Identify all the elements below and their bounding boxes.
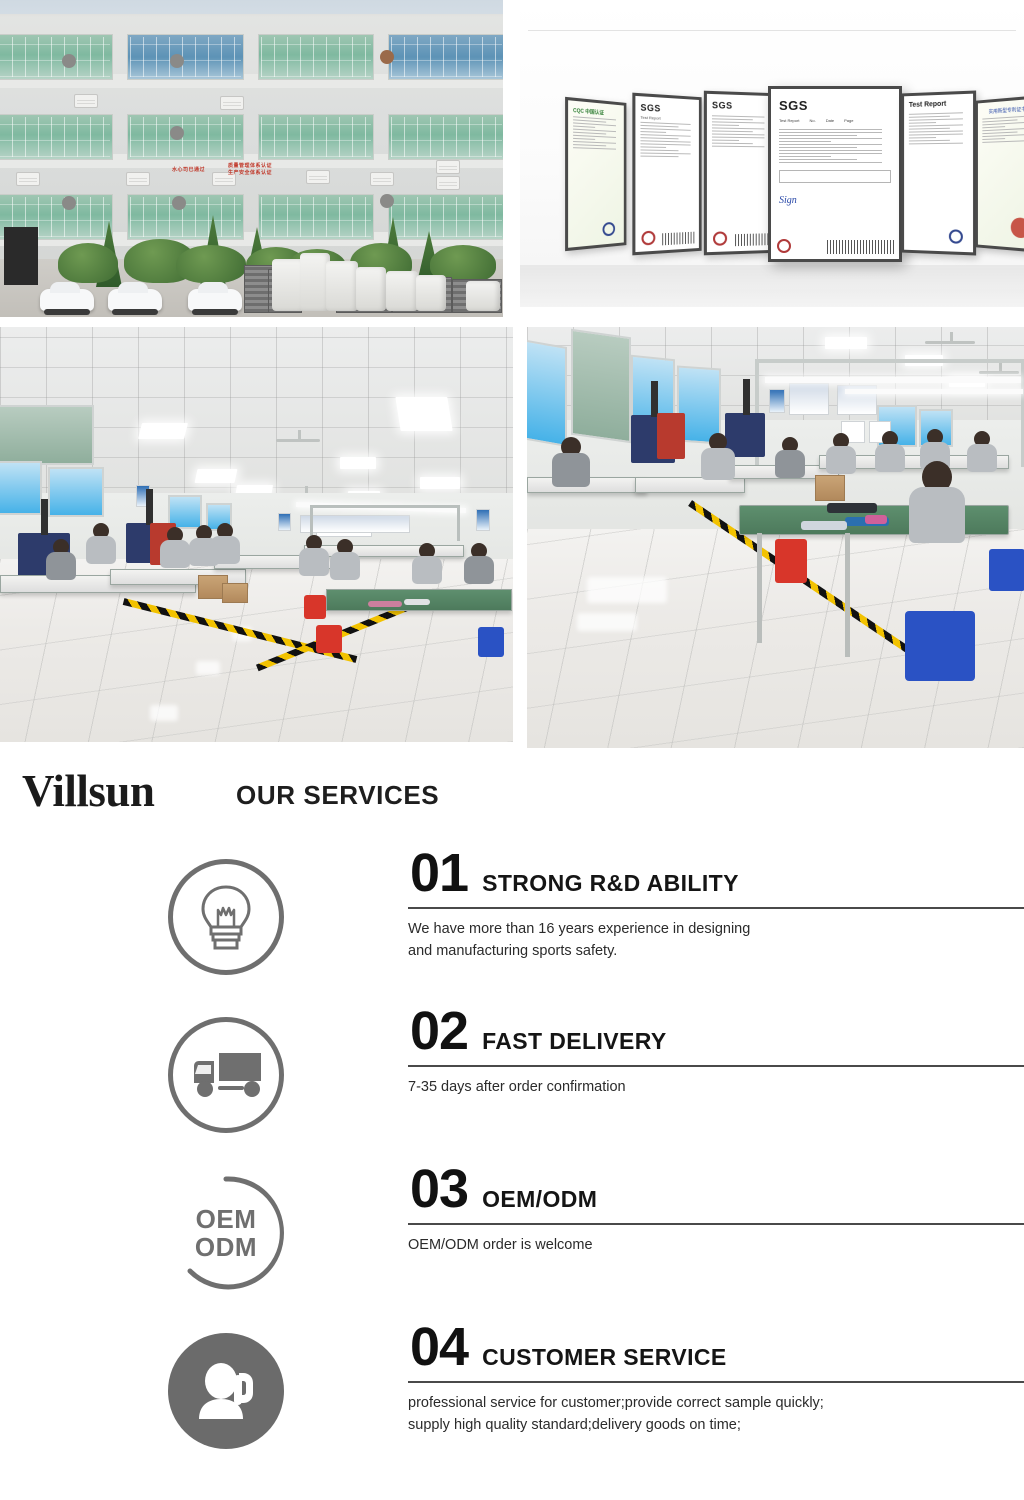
- service-description: 7-35 days after order confirmation: [408, 1067, 1024, 1098]
- certificates-photo: CQC 中国认证 SGS Test Report SGS: [520, 0, 1024, 307]
- service-description-line: professional service for customer;provid…: [408, 1392, 1024, 1414]
- services-list: 01 STRONG R&D ABILITY We have more than …: [0, 845, 1024, 1477]
- service-number: 03: [410, 1161, 468, 1217]
- service-title: OEM/ODM: [482, 1186, 597, 1213]
- window-row-top: [0, 34, 503, 80]
- service-description: We have more than 16 years experience in…: [408, 909, 1024, 962]
- workshop-photo-2: [527, 327, 1024, 748]
- garage-door: [4, 227, 38, 285]
- report-label: Test Report: [779, 118, 799, 123]
- service-title: STRONG R&D ABILITY: [482, 870, 739, 897]
- service-title: FAST DELIVERY: [482, 1028, 667, 1055]
- window-row-mid: [0, 114, 503, 160]
- factory-building: 水心司已通过 质量管理体系认证生产安全体系认证: [0, 14, 503, 276]
- sgs-label: SGS: [640, 102, 694, 115]
- lightbulb-icon: [168, 859, 284, 975]
- certificate-frame: SGS Test Report: [632, 93, 701, 256]
- service-body-01: 01 STRONG R&D ABILITY We have more than …: [408, 845, 1024, 962]
- factory-building-photo: 水心司已通过 质量管理体系认证生产安全体系认证: [0, 0, 503, 317]
- service-description-line: and manufacturing sports safety.: [408, 940, 1024, 962]
- service-title: CUSTOMER SERVICE: [482, 1344, 727, 1371]
- sgs-label: SGS: [712, 100, 769, 112]
- service-description-line: supply high quality standard;delivery go…: [408, 1414, 1024, 1436]
- oem-odm-icon: OEM ODM: [168, 1175, 284, 1291]
- oem-label: OEM: [196, 1205, 257, 1233]
- sgs-label: SGS: [779, 98, 891, 113]
- service-item-02: 02 FAST DELIVERY 7-35 days after order c…: [0, 1003, 1024, 1161]
- service-description-line: We have more than 16 years experience in…: [408, 918, 1024, 940]
- service-description: OEM/ODM order is welcome: [408, 1225, 1024, 1256]
- brand-logo: Villsun: [22, 765, 154, 817]
- service-description-line: 7-35 days after order confirmation: [408, 1076, 1024, 1098]
- service-number: 01: [410, 845, 468, 901]
- certificate-frame: 实用新型专利证书: [975, 95, 1024, 253]
- parked-car: [40, 289, 94, 311]
- service-description: professional service for customer;provid…: [408, 1383, 1024, 1436]
- brand-header: Villsun OUR SERVICES: [0, 765, 1024, 823]
- odm-label: ODM: [195, 1233, 257, 1261]
- service-number: 04: [410, 1319, 468, 1375]
- service-body-03: 03 OEM/ODM OEM/ODM order is welcome: [408, 1161, 1024, 1256]
- service-item-03: OEM ODM 03 OEM/ODM OEM/ODM order is welc…: [0, 1161, 1024, 1319]
- service-item-04: 04 CUSTOMER SERVICE professional service…: [0, 1319, 1024, 1477]
- section-title: OUR SERVICES: [236, 778, 439, 812]
- service-number: 02: [410, 1003, 468, 1059]
- certificate-frame: Test Report: [901, 90, 976, 255]
- service-item-01: 01 STRONG R&D ABILITY We have more than …: [0, 845, 1024, 1003]
- parked-car: [188, 289, 242, 311]
- workshop-photo-1: [0, 327, 513, 742]
- certificate-frame: CQC 中国认证: [565, 97, 626, 251]
- service-description-line: OEM/ODM order is welcome: [408, 1234, 1024, 1256]
- certificate-frame: SGS: [704, 91, 777, 256]
- service-body-02: 02 FAST DELIVERY 7-35 days after order c…: [408, 1003, 1024, 1098]
- report-label: Test Report: [640, 115, 694, 123]
- page-root: 水心司已通过 质量管理体系认证生产安全体系认证: [0, 0, 1024, 1500]
- parked-car: [108, 289, 162, 311]
- delivery-truck-icon: [168, 1017, 284, 1133]
- certificate-frame-main: SGS Test Report No.DatePage Sign: [768, 86, 902, 262]
- customer-support-icon: [168, 1333, 284, 1449]
- service-body-04: 04 CUSTOMER SERVICE professional service…: [408, 1319, 1024, 1436]
